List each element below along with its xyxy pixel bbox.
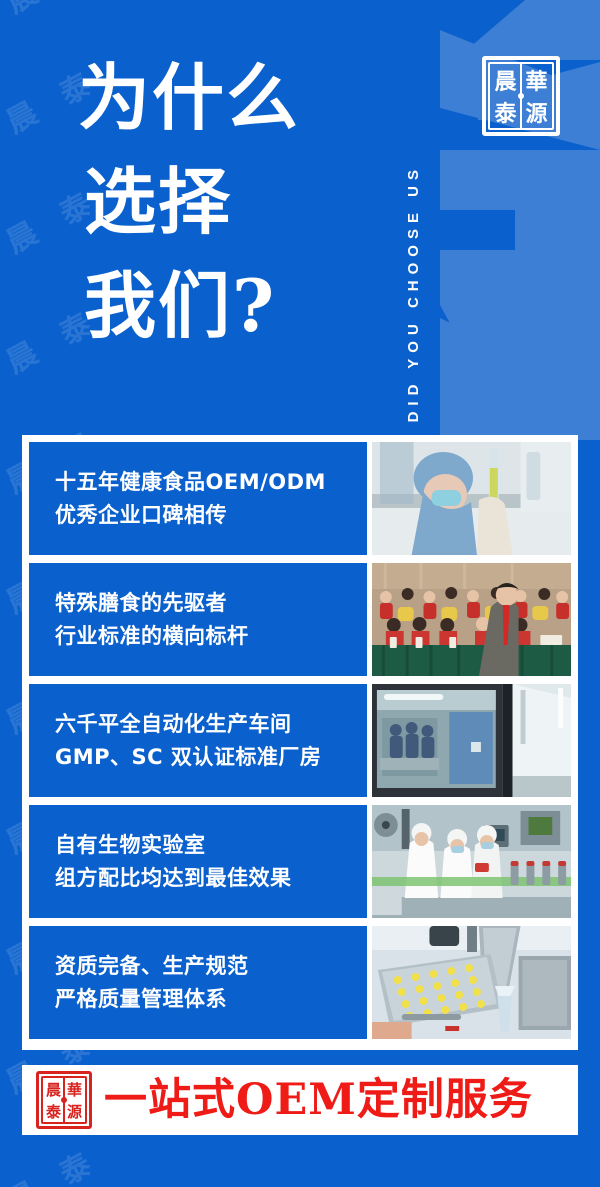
poster-root: 华 源 晨 泰 华 源 晨 泰 华 源 晨 泰 华 源 晨 泰 华 源 晨 泰 … [0,0,600,1187]
feature-line-2: 严格质量管理体系 [55,983,367,1016]
seal-char-bottom-left: 泰 [490,96,521,128]
feature-line-1: 特殊膳食的先驱者 [55,587,367,620]
cta-bar[interactable]: 晨 華 泰 源 一站式OEM定制服务 [22,1065,578,1135]
seal-center-dot [518,93,524,99]
seal-icon: 晨 華 泰 源 [482,56,560,136]
vertical-english-caption: DID YOU CHOOSE US [398,18,428,422]
feature-line-1: 六千平全自动化生产车间 [55,708,367,741]
seal-icon: 晨 華 泰 源 [36,1071,92,1129]
feature-line-2: 组方配比均达到最佳效果 [55,862,367,895]
features-panel: 十五年健康食品OEM/ODM 优秀企业口碑相传 [22,435,578,1050]
seal-char-bottom-right: 源 [64,1100,85,1122]
vertical-english-text: DID YOU CHOOSE US [405,164,422,422]
cleanroom-corridor-photo [372,684,571,797]
seal-center-dot [61,1097,67,1103]
feature-card[interactable]: 自有生物实验室 组方配比均达到最佳效果 [29,805,571,918]
seal-char-bottom-right: 源 [521,96,552,128]
feature-line-1: 自有生物实验室 [55,829,367,862]
feature-card-text: 特殊膳食的先驱者 行业标准的横向标杆 [29,563,367,676]
title-line-2: 选择 [78,150,398,254]
seal-char-top-right: 華 [521,64,552,96]
feature-line-1: 资质完备、生产规范 [55,950,367,983]
feature-card[interactable]: 特殊膳食的先驱者 行业标准的横向标杆 [29,563,571,676]
feature-card[interactable]: 六千平全自动化生产车间 GMP、SC 双认证标准厂房 [29,684,571,797]
tablet-blister-packing-photo [372,926,571,1039]
feature-card-text: 自有生物实验室 组方配比均达到最佳效果 [29,805,367,918]
feature-line-2: 优秀企业口碑相传 [55,499,367,532]
feature-card-text: 资质完备、生产规范 严格质量管理体系 [29,926,367,1039]
conference-audience-photo [372,563,571,676]
lab-technician-pipette-photo [372,442,571,555]
seal-char-bottom-left: 泰 [43,1100,64,1122]
seal-char-top-left: 晨 [490,64,521,96]
seal-char-top-left: 晨 [43,1078,64,1100]
title-line-1: 为什么 [78,46,398,150]
cta-text: 一站式OEM定制服务 [104,1079,533,1122]
feature-card-text: 六千平全自动化生产车间 GMP、SC 双认证标准厂房 [29,684,367,797]
page-title: 为什么 选择 我们? [78,46,398,358]
title-line-3: 我们? [78,254,398,358]
brand-seal-logo-top: 晨 華 泰 源 [482,56,560,136]
feature-line-2: 行业标准的横向标杆 [55,620,367,653]
feature-card[interactable]: 资质完备、生产规范 严格质量管理体系 [29,926,571,1039]
feature-card-text: 十五年健康食品OEM/ODM 优秀企业口碑相传 [29,442,367,555]
feature-card-list: 十五年健康食品OEM/ODM 优秀企业口碑相传 [29,442,571,1043]
feature-card[interactable]: 十五年健康食品OEM/ODM 优秀企业口碑相传 [29,442,571,555]
production-line-workers-photo [372,805,571,918]
feature-line-1: 十五年健康食品OEM/ODM [55,466,367,499]
seal-char-top-right: 華 [64,1078,85,1100]
feature-line-2: GMP、SC 双认证标准厂房 [55,741,367,774]
brand-seal-logo-bottom: 晨 華 泰 源 [36,1071,92,1129]
